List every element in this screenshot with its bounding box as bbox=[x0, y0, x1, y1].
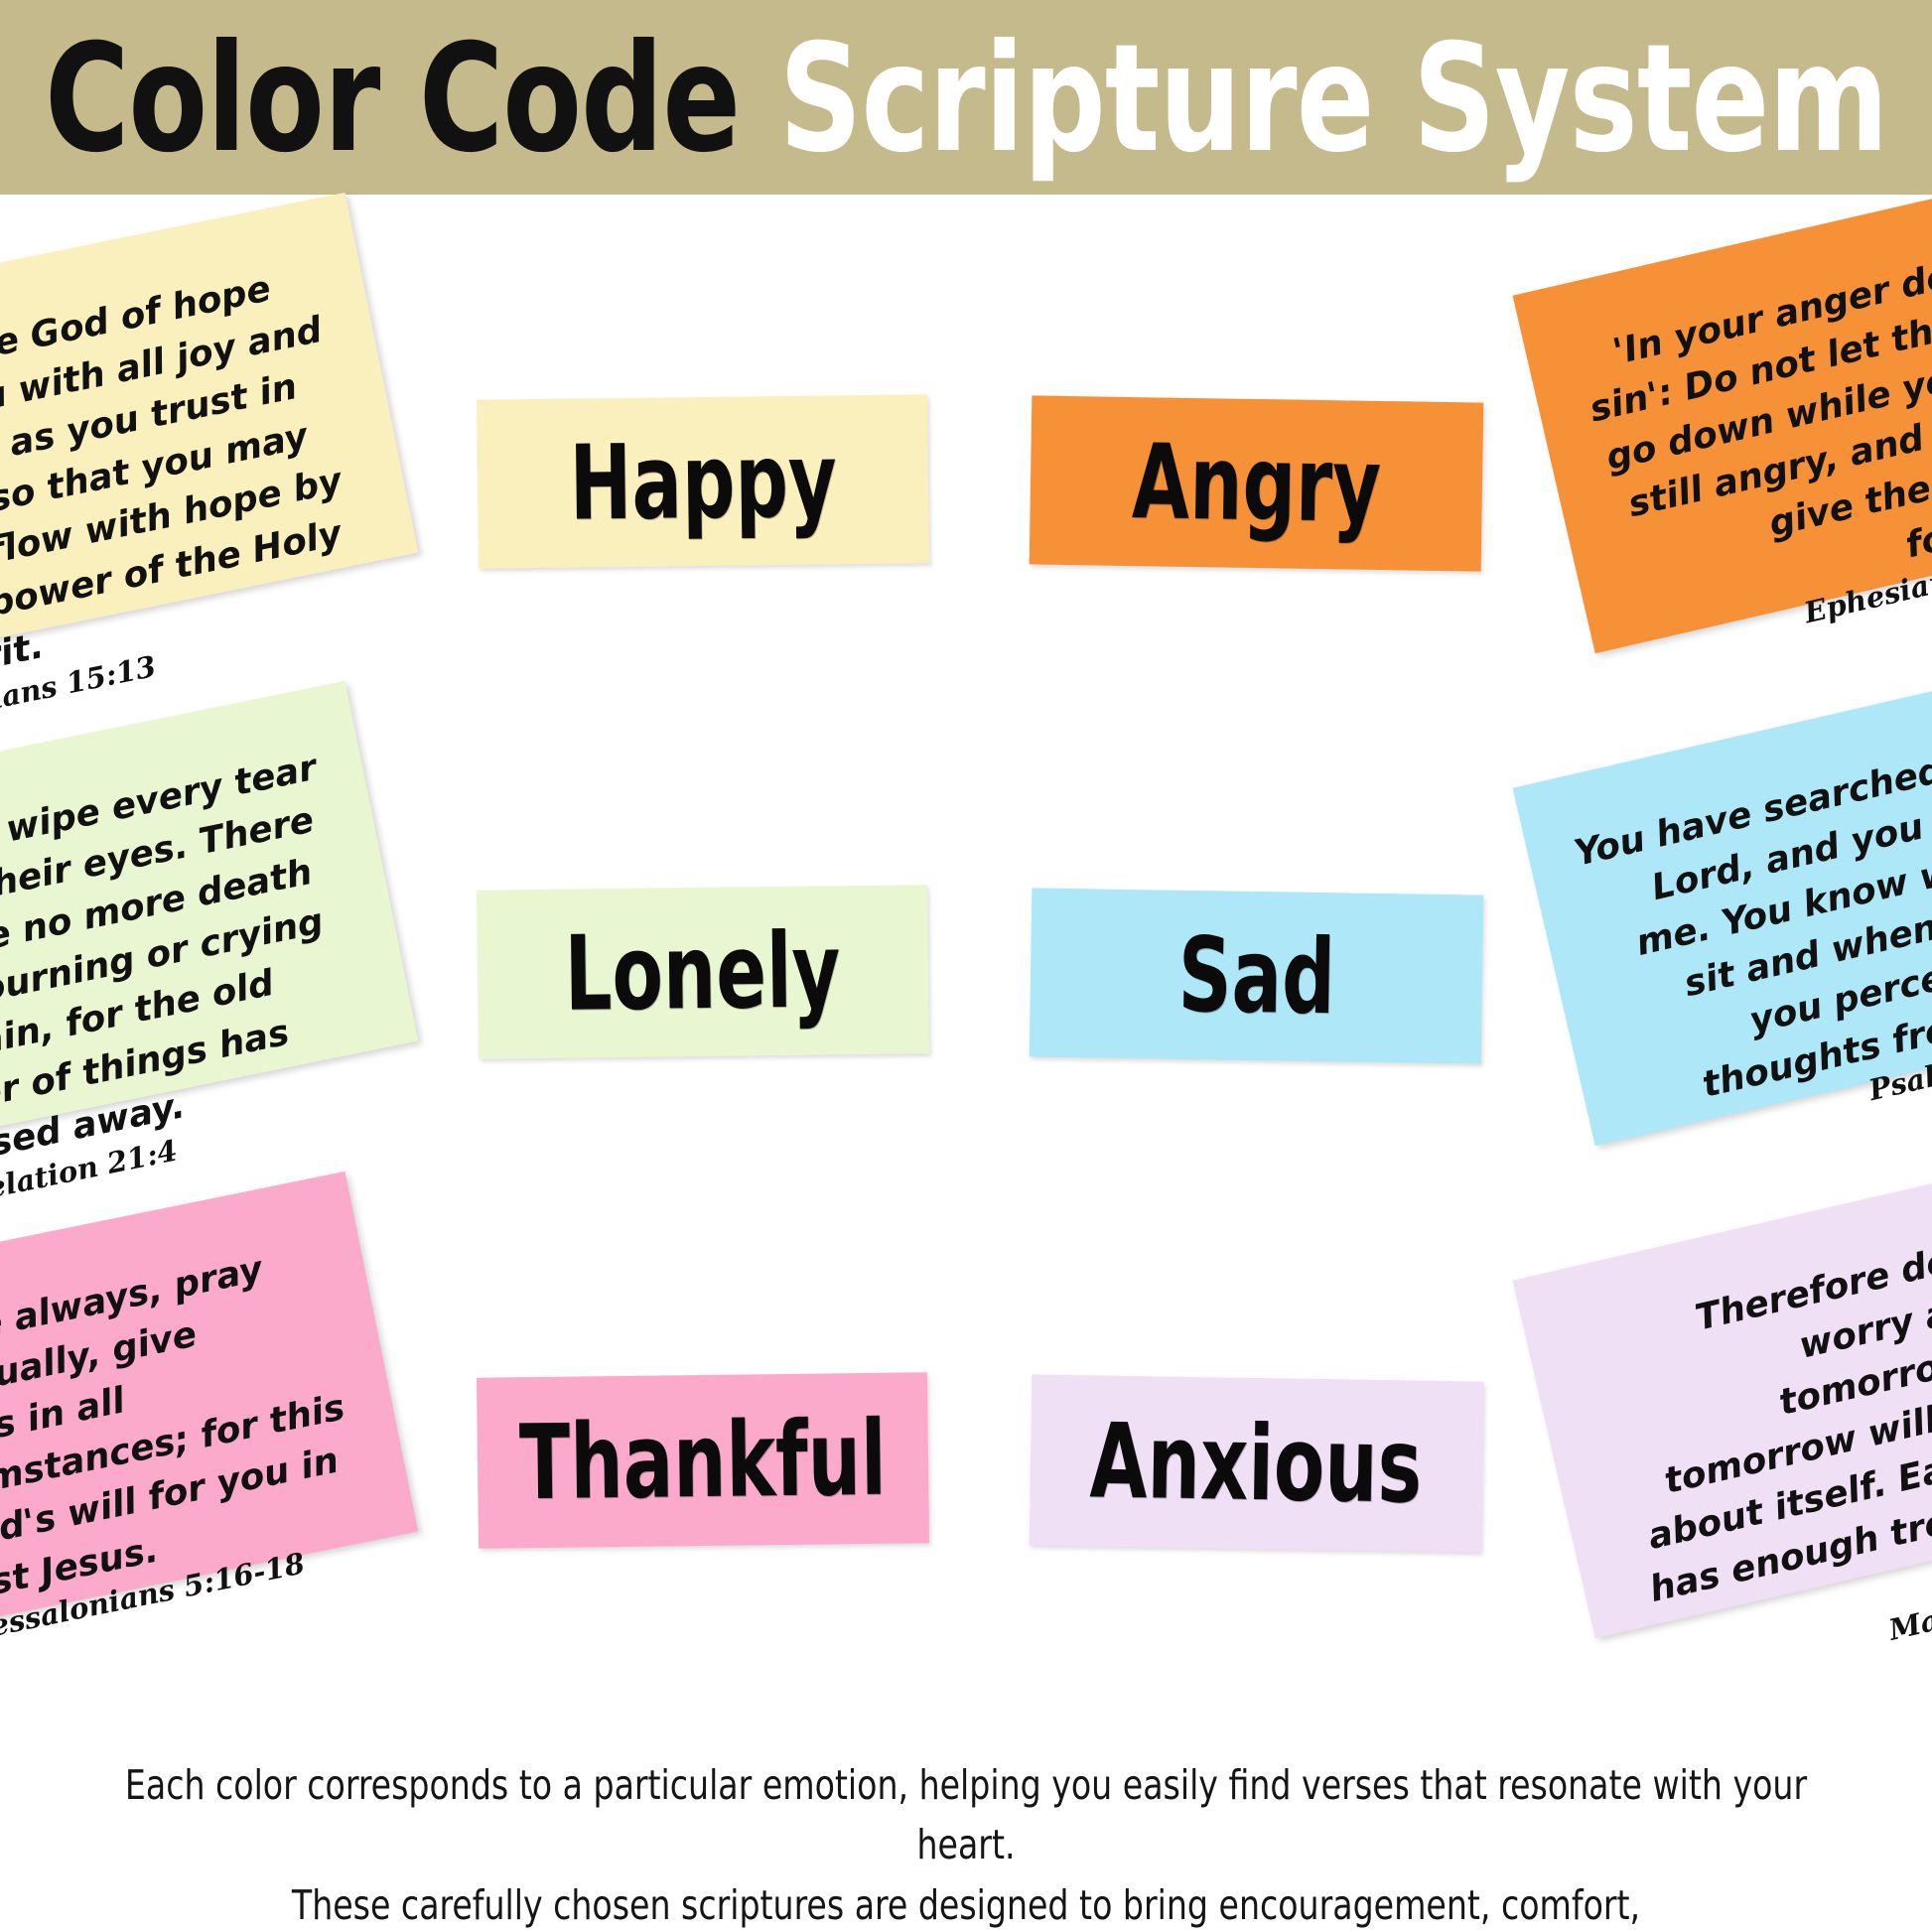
emotion-label-text: Happy bbox=[569, 428, 837, 534]
scripture-card-anxious[interactable]: Therefore do not worry about tomorrow, f… bbox=[1513, 1156, 1932, 1638]
emotion-label-text: Sad bbox=[1177, 923, 1336, 1029]
emotion-label-sad[interactable]: Sad bbox=[1030, 888, 1484, 1063]
emotion-label-angry[interactable]: Angry bbox=[1030, 395, 1484, 571]
scripture-card-happy[interactable]: May the God of hope fill you with all jo… bbox=[0, 193, 418, 663]
scripture-card-lonely[interactable]: He will wipe every tear from their eyes.… bbox=[0, 681, 418, 1152]
emotion-label-happy[interactable]: Happy bbox=[477, 394, 929, 569]
page-title-part1: Color Code bbox=[45, 13, 740, 186]
emotion-label-text: Angry bbox=[1131, 430, 1381, 537]
header-band: Color Code Scripture System bbox=[0, 0, 1932, 195]
page-title-part2: Scripture System bbox=[778, 13, 1887, 186]
scripture-card-thankful[interactable]: Rejoice always, pray continually, give t… bbox=[0, 1172, 418, 1642]
poster-canvas: Color Code Scripture System May the God … bbox=[0, 0, 1932, 1932]
emotion-label-anxious[interactable]: Anxious bbox=[1030, 1374, 1484, 1552]
emotion-label-text: Lonely bbox=[565, 918, 842, 1025]
scripture-card-sad[interactable]: You have searched me, Lord, and you know… bbox=[1513, 663, 1932, 1146]
footer-caption-line-2: These carefully chosen scriptures are de… bbox=[96, 1875, 1835, 1932]
scripture-card-verse: 'In your anger do not sin': Do not let t… bbox=[1570, 233, 1932, 634]
emotion-label-text: Thankful bbox=[519, 1407, 888, 1515]
footer-caption: Each color corresponds to a particular e… bbox=[0, 1755, 1932, 1932]
emotion-label-text: Anxious bbox=[1089, 1409, 1423, 1517]
emotion-label-thankful[interactable]: Thankful bbox=[477, 1372, 929, 1549]
page-title: Color Code Scripture System bbox=[45, 25, 1887, 174]
scripture-card-angry[interactable]: 'In your anger do not sin': Do not let t… bbox=[1513, 171, 1932, 653]
footer-caption-line-1: Each color corresponds to a particular e… bbox=[96, 1755, 1835, 1875]
emotion-label-lonely[interactable]: Lonely bbox=[477, 885, 929, 1059]
scripture-card-verse: You have searched me, Lord, and you know… bbox=[1570, 726, 1932, 1127]
scripture-card-verse: Therefore do not worry about tomorrow, f… bbox=[1570, 1218, 1932, 1669]
